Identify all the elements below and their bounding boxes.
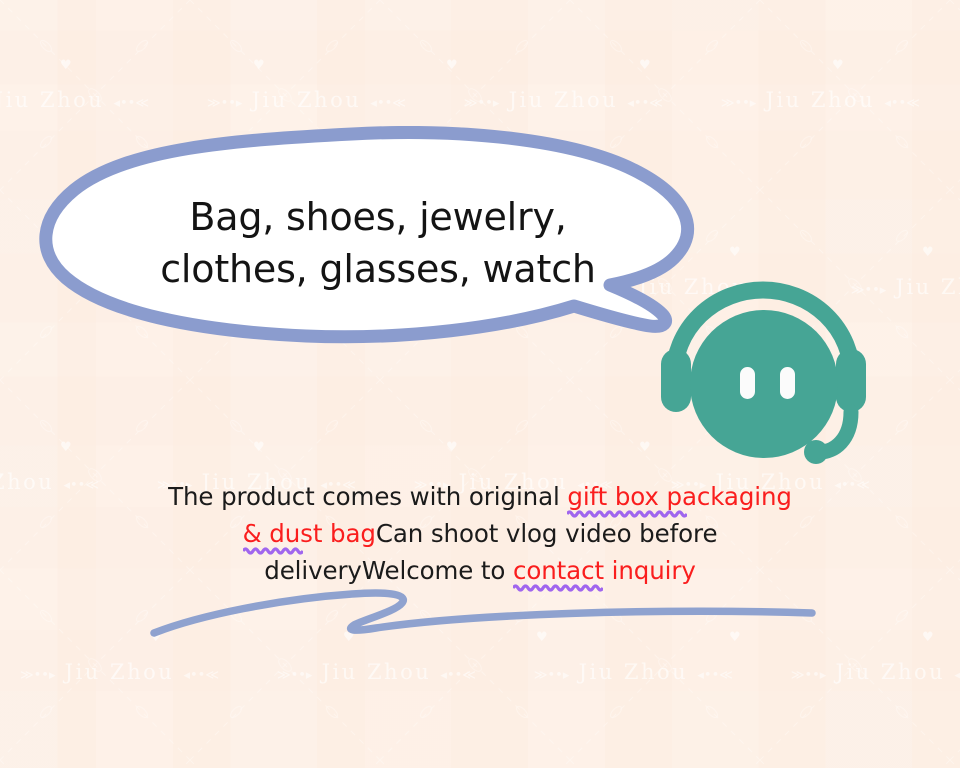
headset-face — [690, 310, 838, 458]
bubble-text: Bag, shoes, jewelry, clothes, glasses, w… — [118, 192, 638, 295]
eye-left-icon — [740, 367, 755, 399]
watermark-row: ≫••▸ Jiu Zhou ◂••≪≫••▸ Jiu Zhou ◂••≪≫••▸… — [20, 660, 960, 684]
bubble-line-2: clothes, glasses, watch — [118, 244, 638, 296]
swash-stroke — [154, 593, 812, 633]
watermark-row: ≫••▸ Jiu Zhou ◂••≪≫••▸ Jiu Zhou ◂••≪≫••▸… — [0, 88, 960, 112]
watermark-text: ≫••▸ Jiu Zhou ◂••≪ — [0, 470, 99, 494]
poster-canvas: ≫••▸ Jiu Zhou ◂••≪≫••▸ Jiu Zhou ◂••≪≫••▸… — [0, 0, 960, 768]
heart-icon: ♥ — [729, 245, 741, 260]
description-line-2: & dust bagCan shoot vlog video before — [140, 515, 820, 552]
description-plain-1: The product comes with original — [168, 482, 567, 511]
heart-icon: ♥ — [253, 440, 265, 455]
watermark-text: ≫••▸ Jiu Zhou ◂••≪ — [0, 88, 149, 112]
description-plain-2: Can shoot vlog video before — [376, 519, 718, 548]
heart-icon: ♥ — [922, 630, 934, 645]
bubble-line-1: Bag, shoes, jewelry, — [118, 192, 638, 244]
heart-icon: ♥ — [922, 245, 934, 260]
wavy-underline-icon — [243, 547, 303, 555]
headset-earcup-right — [836, 349, 866, 412]
watermark-text: ≫••▸ Jiu Zhou ◂••≪ — [791, 660, 960, 684]
heart-icon: ♥ — [253, 58, 265, 73]
heart-icon: ♥ — [60, 440, 72, 455]
decorative-swash — [140, 575, 830, 655]
description-paragraph: The product comes with original gift box… — [140, 478, 820, 589]
watermark-text: ≫••▸ Jiu Zhou ◂••≪ — [534, 660, 733, 684]
heart-icon: ♥ — [639, 440, 651, 455]
highlight-gift-box-packaging: gift box packaging — [567, 482, 791, 511]
watermark-text: ≫••▸ Jiu Zhou ◂••≪ — [207, 88, 406, 112]
watermark-text: ≫••▸ Jiu Zhou ◂••≪ — [277, 660, 476, 684]
heart-icon: ♥ — [832, 58, 844, 73]
headset-mic-tip — [804, 440, 828, 464]
highlight-dust-bag: & dust bag — [243, 519, 376, 548]
watermark-text: ≫••▸ Jiu Zhou ◂••≪ — [20, 660, 219, 684]
watermark-text: ≫••▸ Jiu Zhou ◂••≪ — [464, 88, 663, 112]
wavy-underline-icon — [567, 510, 687, 518]
heart-icon: ♥ — [639, 58, 651, 73]
speech-bubble: Bag, shoes, jewelry, clothes, glasses, w… — [34, 126, 714, 376]
watermark-text: ≫••▸ Jiu Zhou ◂••≪ — [721, 88, 920, 112]
heart-icon: ♥ — [446, 58, 458, 73]
description-line-1: The product comes with original gift box… — [140, 478, 820, 515]
headset-earcup-left — [661, 349, 691, 412]
eye-right-icon — [780, 367, 795, 399]
heart-icon: ♥ — [60, 58, 72, 73]
headset-icon — [652, 272, 882, 464]
heart-icon: ♥ — [446, 440, 458, 455]
